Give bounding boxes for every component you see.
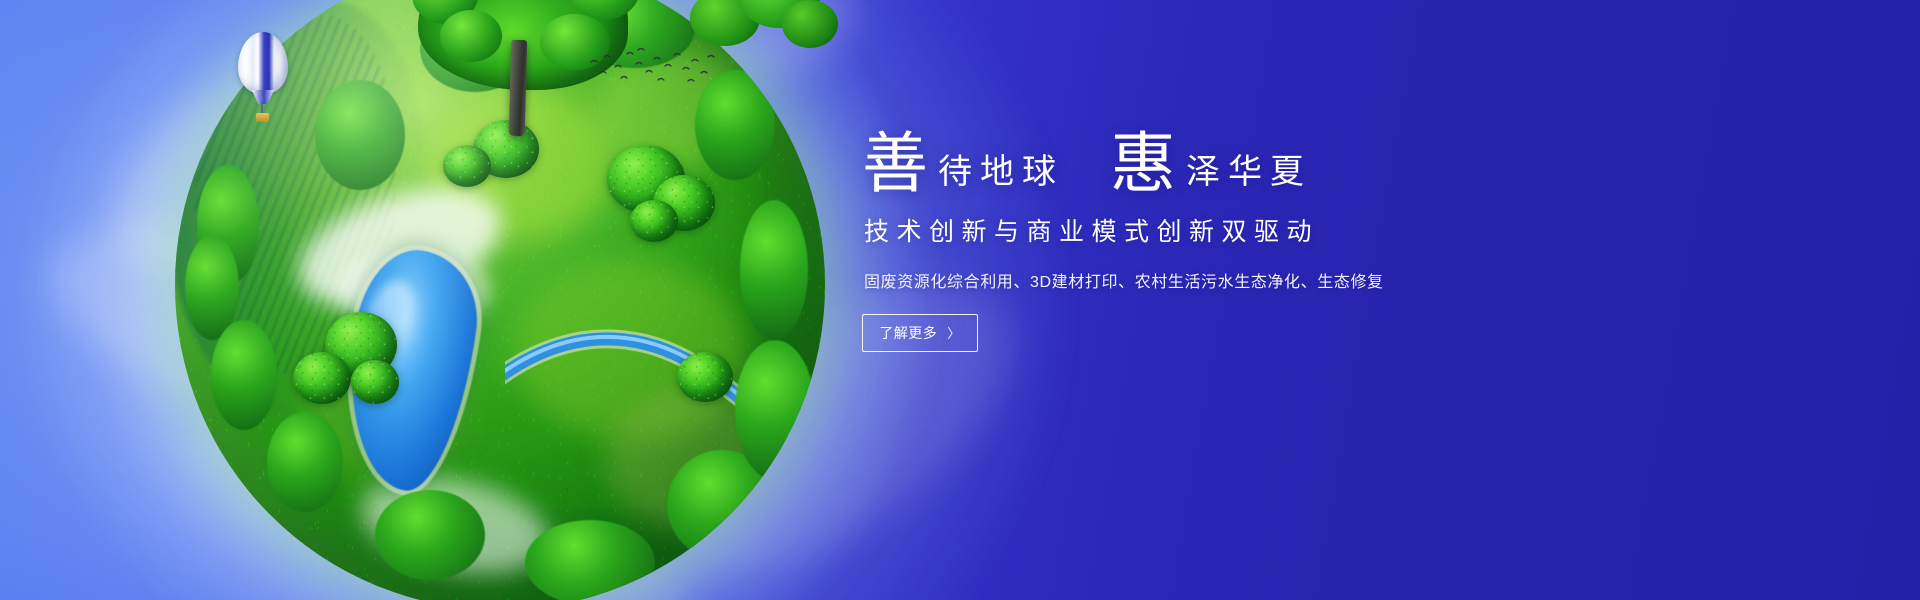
rim-foliage [735, 340, 815, 480]
rim-foliage [185, 235, 239, 340]
tree-canopy [443, 145, 491, 187]
birds-flock [588, 48, 718, 90]
tree-canopy [325, 312, 397, 378]
mountain-ridge [175, 0, 425, 420]
terrace-lines [195, 15, 395, 375]
headline-char-2: 惠 [1110, 132, 1176, 198]
hero-copy: 善 待地球 惠 泽华夏 技术创新与商业模式创新双驱动 固废资源化综合利用、3D建… [862, 132, 1502, 352]
hero-subtitle: 技术创新与商业模式创新双驱动 [864, 212, 1502, 248]
tree-canopy [607, 145, 685, 213]
meadow-patch [515, 260, 745, 440]
page-title: 善 待地球 惠 泽华夏 [862, 132, 1502, 198]
meadow-patch [295, 340, 465, 480]
rim-foliage [375, 490, 485, 580]
surface-cloud [340, 250, 490, 330]
hero-banner: 善 待地球 惠 泽华夏 技术创新与商业模式创新双驱动 固废资源化综合利用、3D建… [0, 0, 1920, 600]
tree-canopy [293, 352, 351, 404]
chevron-right-icon: 〉 [947, 327, 961, 340]
headline-char-1: 善 [862, 132, 928, 198]
tree-canopy [630, 200, 678, 242]
lake [334, 243, 486, 497]
learn-more-label: 了解更多 [879, 323, 937, 343]
surface-cloud [284, 165, 516, 330]
hero-description: 固废资源化综合利用、3D建材打印、农村生活污水生态净化、生态修复 [864, 268, 1502, 292]
balloon-skirt [252, 90, 274, 104]
rim-foliage [197, 165, 259, 285]
hot-air-balloon [238, 32, 294, 128]
balloon-envelope [238, 32, 288, 94]
rim-foliage [740, 200, 808, 340]
lake-highlight [355, 275, 425, 374]
tree-canopy [473, 120, 539, 178]
rim-foliage [315, 80, 405, 190]
rim-foliage [525, 520, 655, 600]
rim-foliage [267, 412, 343, 512]
balloon-basket [256, 113, 269, 122]
rim-foliage [667, 450, 777, 560]
rim-foliage [211, 320, 277, 430]
surface-cloud [353, 461, 558, 589]
rim-foliage [420, 6, 530, 92]
tree-canopy [677, 352, 733, 402]
headline-word-2: 泽华夏 [1176, 156, 1312, 198]
learn-more-button[interactable]: 了解更多 〉 [862, 314, 978, 352]
tree-canopy [351, 360, 399, 404]
river [505, 290, 825, 550]
tree-canopy [653, 175, 715, 231]
headline-word-1: 待地球 [928, 156, 1064, 198]
meadow-patch [425, 90, 615, 240]
